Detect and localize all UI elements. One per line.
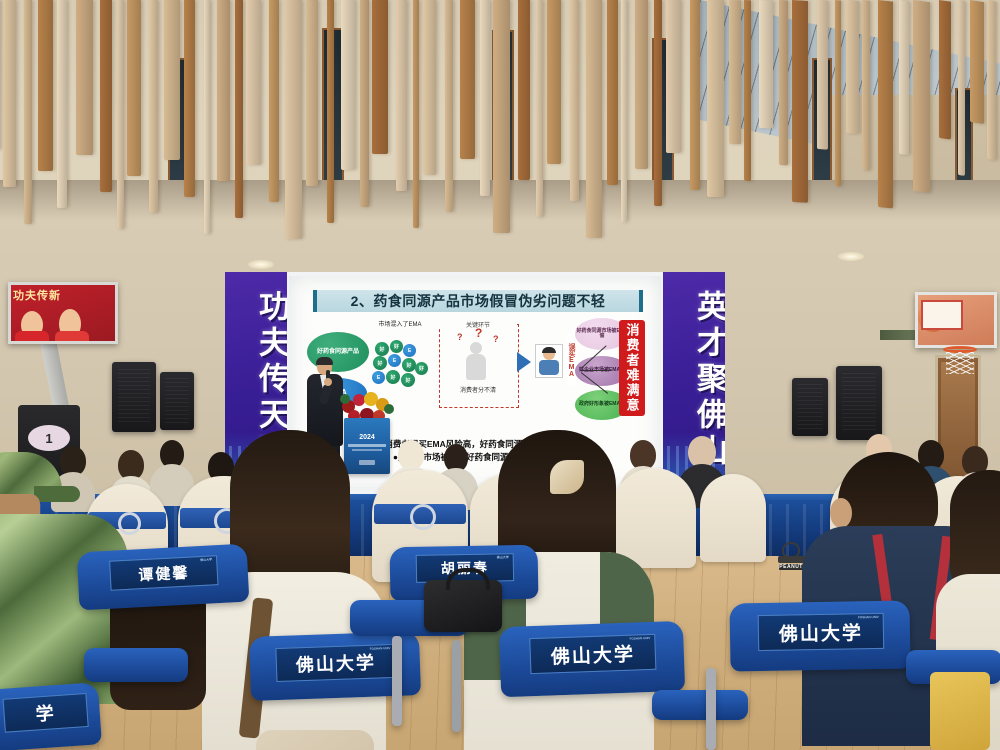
- podium-logo: [359, 460, 375, 465]
- ad-costume: [15, 331, 49, 344]
- question-mark-icon: ?: [493, 334, 499, 344]
- ceiling-light: [838, 252, 864, 261]
- wood-slat: [970, 0, 984, 124]
- figure-body: [466, 354, 486, 380]
- wood-slat: [149, 0, 158, 213]
- flow-arrow-icon: [517, 352, 531, 372]
- wood-slat: [835, 0, 841, 186]
- wrong-buy-text: 误买EMA: [568, 343, 575, 378]
- skirt-pleat: [769, 504, 772, 560]
- wood-slat: [460, 0, 475, 159]
- wood-slat: [493, 0, 510, 233]
- sash-ring: [410, 504, 436, 530]
- chair-with-nameplate[interactable]: 学: [0, 682, 102, 750]
- backboard-inner-square: [921, 300, 963, 330]
- nameplate-subtext: 佛山大学: [497, 555, 509, 559]
- wood-slat: [817, 0, 828, 150]
- nameplate-text: 学: [35, 699, 57, 726]
- wood-slat: [536, 0, 543, 217]
- wood-slat: [958, 0, 965, 176]
- photo-scene: 功夫传新 1 功夫传天下 英才聚佛山 2、药食同源产品市场假冒伪劣问题不轻: [0, 0, 1000, 750]
- nameplate: FOSHAN UNIV 佛山大学: [275, 644, 396, 682]
- wood-slat: [899, 0, 909, 155]
- wood-slat: [217, 0, 230, 181]
- foliage: [340, 394, 350, 404]
- basketball-net: [946, 352, 974, 374]
- podium-year: 2024: [344, 434, 390, 441]
- advertising-board-left: 功夫传新: [8, 282, 118, 344]
- wood-slat: [707, 0, 724, 197]
- wood-slat: [360, 0, 369, 207]
- wood-slat: [396, 0, 407, 191]
- wood-slat: [76, 0, 93, 155]
- wood-slat: [423, 0, 436, 175]
- confused-text: 消费者分不清: [460, 388, 496, 394]
- pa-speaker: [836, 366, 882, 440]
- wood-slat: [666, 0, 681, 153]
- buyer-body: [539, 360, 559, 375]
- slide-title-bar: 2、药食同源产品市场假冒伪劣问题不轻: [313, 290, 643, 312]
- wood-slat: [939, 0, 951, 140]
- chair-with-nameplate[interactable]: FOSHAN UNIV 佛山大学: [499, 621, 685, 697]
- cluster-dot: E: [388, 354, 401, 367]
- cluster-dot: E: [372, 371, 385, 384]
- cluster-dot: 好: [375, 342, 389, 356]
- cluster-dot: 好: [390, 340, 403, 353]
- buyer-hair: [542, 347, 556, 353]
- wood-slat: [246, 0, 261, 165]
- wood-slat: [792, 0, 808, 203]
- chair-cover: [612, 468, 696, 568]
- wood-slat: [413, 0, 419, 228]
- wood-slat: [547, 0, 561, 164]
- outcome-arrow: [581, 370, 611, 371]
- wood-slat: [607, 0, 618, 185]
- wood-slat: [57, 0, 67, 208]
- tote-bag: [930, 672, 990, 750]
- pa-speaker: [112, 362, 156, 432]
- nameplate-subtext: FOSHAN UNIV: [858, 615, 879, 619]
- chair-seat[interactable]: [652, 690, 748, 720]
- wood-slat: [635, 0, 648, 169]
- chair-cover: [700, 474, 766, 562]
- cluster-dot: 好: [401, 373, 415, 387]
- cluster-dot: 好: [402, 358, 416, 372]
- wood-slat: [38, 0, 53, 171]
- wood-slat: [235, 0, 243, 218]
- wood-slat: [3, 0, 16, 187]
- wood-slat: [204, 0, 210, 234]
- wood-slat: [862, 0, 870, 171]
- nameplate-text: 佛山大学: [779, 618, 863, 646]
- nameplate: 佛山大学 谭健馨: [109, 555, 218, 591]
- cluster-dot: E: [403, 344, 416, 357]
- wood-slat: [445, 0, 453, 212]
- cluster-dot: 好: [386, 370, 400, 384]
- wood-slat: [846, 0, 859, 134]
- chair-seat[interactable]: [84, 648, 188, 682]
- court-number: 1: [45, 431, 52, 446]
- wood-slat: [306, 0, 318, 186]
- confused-consumer-figure: [463, 342, 489, 386]
- wood-slat: [100, 0, 112, 192]
- wood-slat: [987, 0, 996, 160]
- nameplate-subtext: 佛山大学: [200, 557, 212, 562]
- pa-speaker: [792, 378, 828, 436]
- wood-slat: [127, 0, 141, 176]
- skirt-pleat: [361, 504, 364, 560]
- question-mark-icon: ?: [475, 326, 482, 340]
- chair-leg: [452, 640, 461, 732]
- wood-slat: [744, 0, 751, 181]
- wood-slat: [164, 0, 180, 160]
- wood-slat: [779, 0, 788, 165]
- wood-slat: [184, 0, 195, 197]
- nameplate-text: 佛山大学: [550, 639, 635, 669]
- court-number-badge: 1: [28, 425, 70, 451]
- chair-with-nameplate[interactable]: 佛山大学 谭健馨: [77, 544, 250, 611]
- wood-slat: [621, 0, 627, 222]
- hair-clip: [550, 460, 584, 494]
- wood-slat: [586, 0, 602, 238]
- hair: [950, 470, 1000, 590]
- nameplate: FOSHAN UNIV 佛山大学: [529, 634, 656, 674]
- mixed-market-text: 市场混入了EMA: [378, 322, 421, 328]
- chair-leg: [706, 668, 716, 750]
- ceiling-light: [248, 260, 274, 269]
- conclusion-text: 消费者难满意: [623, 323, 642, 413]
- podium-banner-line: [348, 444, 386, 447]
- podium: 2024: [344, 418, 390, 474]
- wood-slat: [327, 0, 334, 223]
- figure-head: [470, 342, 482, 354]
- blob-label: 好药食同源产品: [317, 349, 359, 355]
- presenter-hair: [316, 357, 333, 365]
- wood-slat: [480, 0, 490, 196]
- nameplate: FOSHAN UNIV 佛山大学: [758, 613, 885, 651]
- nameplate-text: 谭健馨: [138, 561, 190, 585]
- sash-ring: [118, 512, 141, 535]
- wood-slat: [759, 0, 773, 129]
- handbag-handle: [446, 568, 490, 590]
- wood-slat: [729, 0, 741, 144]
- wood-slat: [878, 0, 893, 209]
- ad-text: 功夫传新: [13, 287, 61, 303]
- ear: [830, 498, 852, 528]
- podium-banner-line: [352, 449, 382, 451]
- wood-slat: [117, 0, 124, 229]
- basketball-hoop-arm-right: [880, 330, 920, 340]
- pa-speaker: [160, 372, 194, 430]
- chair-leg: [392, 636, 402, 726]
- slide-title-text: 2、药食同源产品市场假冒伪劣问题不轻: [351, 291, 606, 311]
- confused-label: 消费者分不清: [439, 388, 517, 396]
- wood-slat: [269, 0, 279, 202]
- wood-slat: [690, 0, 700, 190]
- wrong-buy-label: 误买EMA: [566, 334, 577, 386]
- cap-brim: [34, 486, 80, 502]
- wood-slat: [341, 0, 355, 170]
- cluster-dot: 好: [373, 356, 387, 370]
- wood-slat: [913, 0, 930, 193]
- foliage: [384, 404, 394, 414]
- nameplate-subtext: FOSHAN UNIV: [630, 636, 651, 641]
- presenter-hand: [324, 378, 332, 386]
- wood-slat: [372, 0, 388, 154]
- mixed-market-label: 市场混入了EMA: [371, 322, 429, 330]
- nameplate-text: 佛山大学: [295, 649, 376, 678]
- nameplate: 学: [3, 693, 89, 733]
- chair-with-nameplate[interactable]: FOSHAN UNIV 佛山大学: [729, 600, 910, 671]
- nameplate-subtext: FOSHAN UNIV: [370, 646, 391, 651]
- wood-slat: [518, 0, 530, 180]
- wood-slat: [285, 0, 302, 239]
- conclusion-bar: 消费者难满意: [619, 320, 645, 416]
- backpack: [256, 730, 374, 750]
- buyer-illustration: [535, 344, 563, 378]
- wood-slat: [24, 0, 32, 224]
- ad-costume: [55, 331, 89, 344]
- cluster-dot: 好: [415, 362, 428, 375]
- wood-slat: [570, 0, 579, 201]
- question-mark-icon: ?: [457, 332, 463, 342]
- wood-slat: [654, 0, 662, 206]
